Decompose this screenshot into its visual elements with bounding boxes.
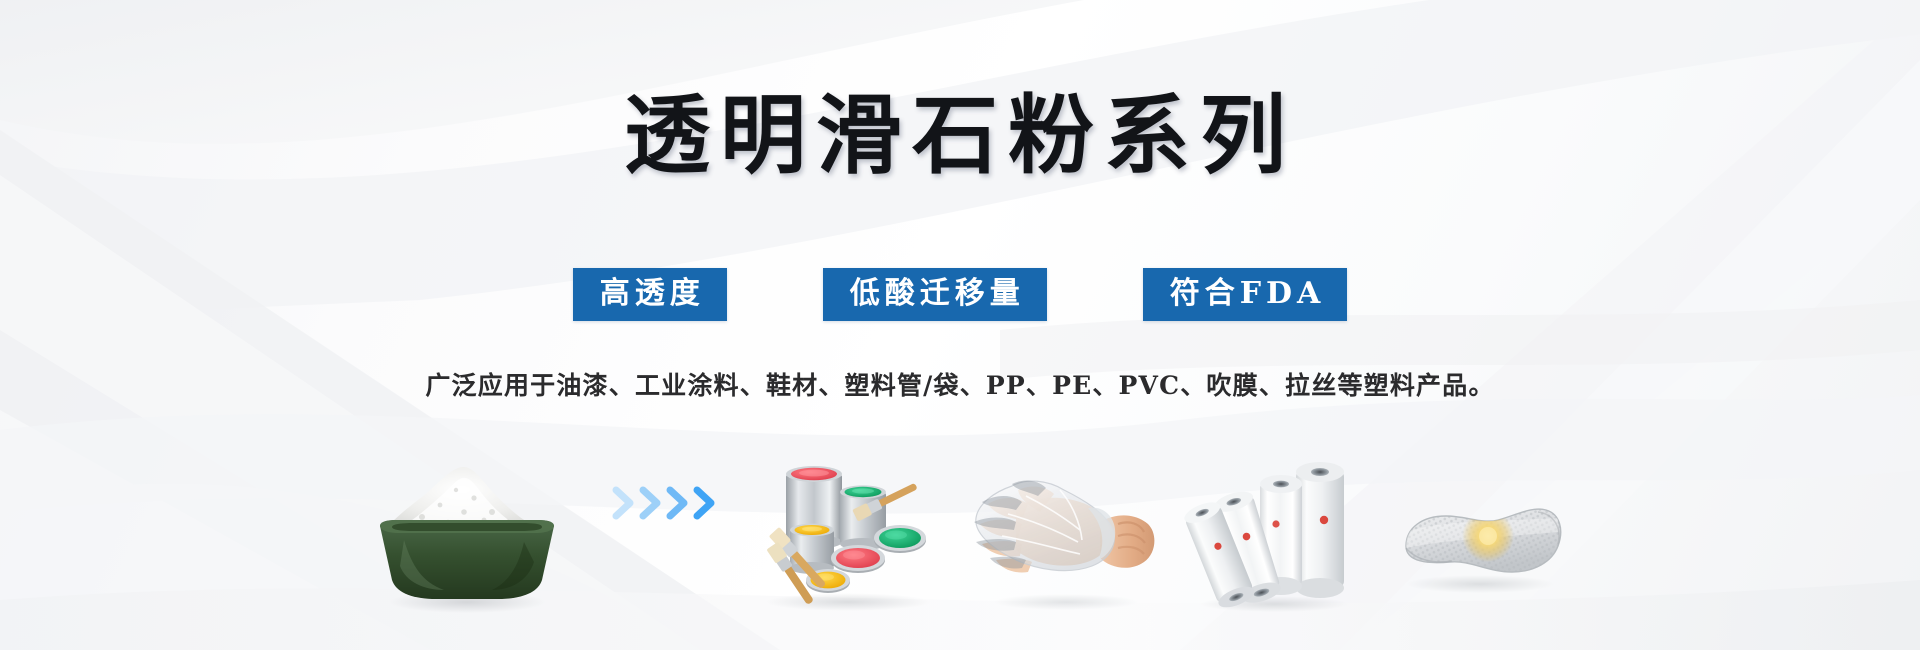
process-arrows-icon [610, 428, 730, 578]
application-description: 广泛应用于油漆、工业涂料、鞋材、塑料管/袋、PP、PE、PVC、吹膜、拉丝等塑料… [0, 370, 1920, 402]
page-title: 透明滑石粉系列 [0, 84, 1920, 188]
feature-badge-list: 高透度 低酸迁移量 符合FDA [0, 268, 1920, 321]
plastic-glove-image [968, 462, 1158, 612]
feature-badge-high-transparency[interactable]: 高透度 [573, 268, 727, 321]
product-image-strip [0, 432, 1920, 612]
feature-badge-fda-compliant[interactable]: 符合FDA [1143, 268, 1348, 321]
feature-badge-low-acid-migration[interactable]: 低酸迁移量 [823, 268, 1047, 321]
shoe-sole-image [1388, 462, 1568, 612]
talc-powder-bowl-image [352, 462, 582, 612]
film-rolls-image [1184, 462, 1364, 612]
product-banner: 透明滑石粉系列 高透度 低酸迁移量 符合FDA 广泛应用于油漆、工业涂料、鞋材、… [0, 0, 1920, 650]
paint-cans-image [748, 452, 948, 612]
